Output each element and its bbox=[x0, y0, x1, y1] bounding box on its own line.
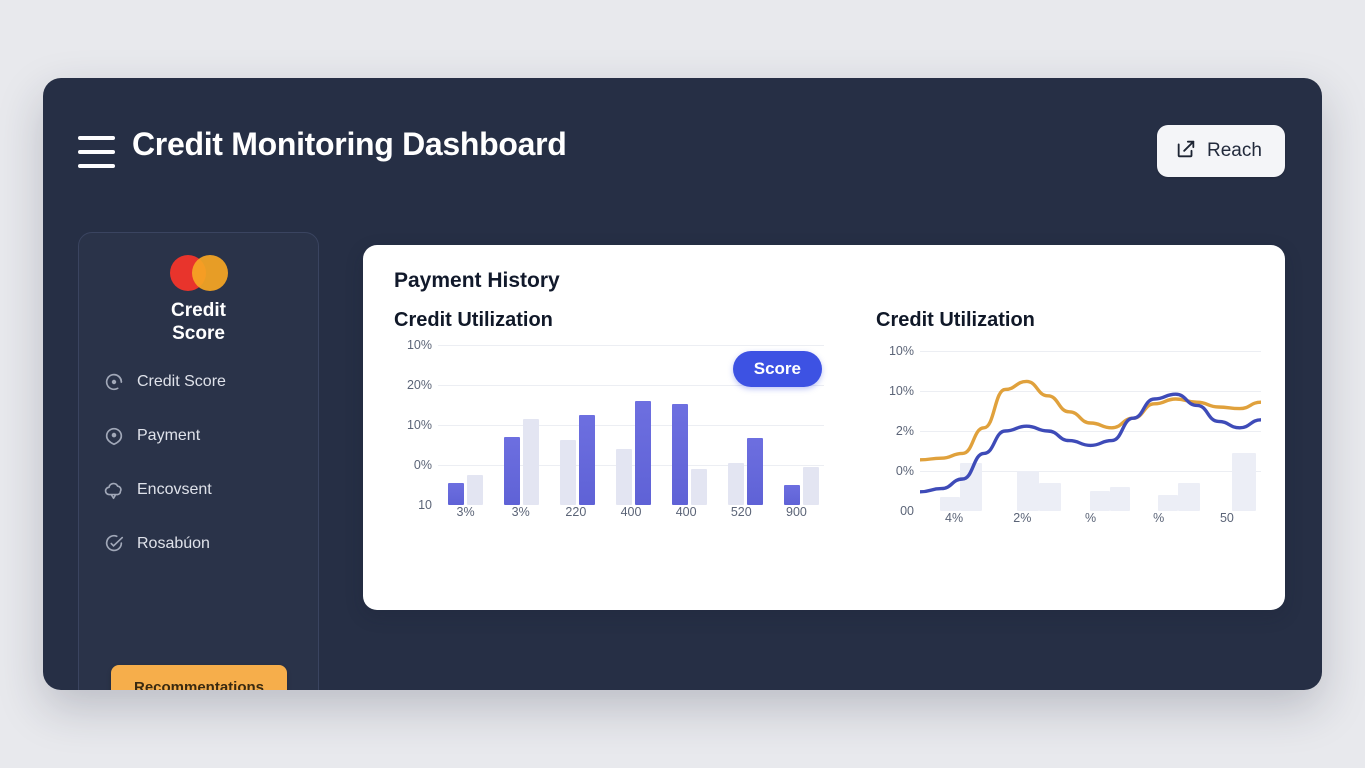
logo-circle-orange bbox=[192, 255, 228, 291]
chart-bar bbox=[747, 438, 763, 505]
sidebar-item-label: Encovsent bbox=[137, 481, 212, 499]
chart-bar bbox=[635, 401, 651, 505]
y-axis-tick: 0% bbox=[896, 464, 914, 478]
chart-bar bbox=[523, 419, 539, 505]
hamburger-bar bbox=[78, 150, 115, 154]
hamburger-bar bbox=[78, 164, 115, 168]
payment-history-panel: Payment History Credit Utilization 10%20… bbox=[363, 245, 1285, 610]
sidebar: Credit Score Credit Score Payment bbox=[78, 232, 319, 690]
y-axis: 10%10%2%0%00 bbox=[876, 351, 914, 511]
x-axis-tick: 400 bbox=[676, 505, 697, 519]
chart-bar bbox=[691, 469, 707, 505]
credit-utilization-bar-chart: Credit Utilization 10%20%10%0%10 Score 3… bbox=[394, 309, 824, 525]
y-axis-tick: 10% bbox=[407, 338, 432, 352]
location-pin-circle-icon bbox=[103, 425, 125, 447]
brand-name: Credit Score bbox=[79, 299, 318, 345]
sidebar-item-label: Credit Score bbox=[137, 373, 226, 391]
chart-bar bbox=[560, 440, 576, 505]
y-axis-tick: 10% bbox=[889, 384, 914, 398]
y-axis-tick: 10% bbox=[407, 418, 432, 432]
chart-bar bbox=[728, 463, 744, 505]
chart-bar bbox=[616, 449, 632, 505]
x-axis-tick: 220 bbox=[565, 505, 586, 519]
line-plot-area: 10%10%2%0%00 4%2%%%50 bbox=[876, 351, 1261, 531]
x-axis-tick: 900 bbox=[786, 505, 807, 519]
dashboard-window: Credit Monitoring Dashboard Reach Credit… bbox=[43, 78, 1322, 690]
sidebar-item-encovsent[interactable]: Encovsent bbox=[103, 475, 318, 505]
x-axis-tick: 400 bbox=[621, 505, 642, 519]
brand-name-line2: Score bbox=[79, 322, 318, 345]
reach-button-label: Reach bbox=[1207, 140, 1262, 162]
gridline bbox=[438, 345, 824, 346]
page-title: Credit Monitoring Dashboard bbox=[132, 126, 567, 163]
x-axis-tick: 3% bbox=[512, 505, 530, 519]
x-axis: 3%3%220400400520900 bbox=[438, 505, 824, 527]
y-axis-tick: 10 bbox=[418, 498, 432, 512]
chart-bar bbox=[504, 437, 520, 505]
chart-bar bbox=[467, 475, 483, 505]
x-axis-tick: 520 bbox=[731, 505, 752, 519]
panel-title: Payment History bbox=[394, 269, 560, 293]
mastercard-logo bbox=[170, 255, 228, 291]
y-axis-tick: 20% bbox=[407, 378, 432, 392]
sidebar-item-label: Rosabúon bbox=[137, 535, 210, 553]
chart-title: Credit Utilization bbox=[394, 309, 824, 332]
sidebar-item-payment[interactable]: Payment bbox=[103, 421, 318, 451]
recommendations-button[interactable]: Recommentations bbox=[111, 665, 287, 690]
credit-utilization-line-chart: Credit Utilization 10%10%2%0%00 4%2%%%50 bbox=[876, 309, 1261, 531]
target-check-icon bbox=[103, 533, 125, 555]
sidebar-item-credit-score[interactable]: Credit Score bbox=[103, 367, 318, 397]
trend-line bbox=[920, 381, 1261, 459]
cloud-badge-icon bbox=[103, 479, 125, 501]
hamburger-bar bbox=[78, 136, 115, 140]
bar-plot-area: 10%20%10%0%10 Score 3%3%220400400520900 bbox=[394, 345, 824, 525]
x-axis-tick: 3% bbox=[457, 505, 475, 519]
sidebar-item-rosabuon[interactable]: Rosabúon bbox=[103, 529, 318, 559]
trend-lines bbox=[920, 351, 1261, 519]
external-link-icon bbox=[1175, 138, 1197, 165]
gauge-circle-icon bbox=[103, 371, 125, 393]
y-axis-tick: 10% bbox=[889, 344, 914, 358]
y-axis-tick: 2% bbox=[896, 424, 914, 438]
reach-button[interactable]: Reach bbox=[1157, 125, 1285, 177]
sidebar-item-label: Payment bbox=[137, 427, 200, 445]
chart-title: Credit Utilization bbox=[876, 309, 1261, 332]
chart-bar bbox=[803, 467, 819, 505]
hamburger-menu-icon[interactable] bbox=[78, 136, 115, 168]
chart-bar bbox=[579, 415, 595, 505]
brand-name-line1: Credit bbox=[79, 299, 318, 322]
gridline bbox=[438, 425, 824, 426]
y-axis-tick: 00 bbox=[900, 504, 914, 518]
y-axis-tick: 0% bbox=[414, 458, 432, 472]
chart-bar bbox=[448, 483, 464, 505]
y-axis: 10%20%10%0%10 bbox=[394, 345, 432, 505]
chart-bar bbox=[672, 404, 688, 505]
score-badge[interactable]: Score bbox=[733, 351, 822, 387]
app-header: Credit Monitoring Dashboard Reach bbox=[43, 78, 1322, 201]
chart-bar bbox=[784, 485, 800, 505]
